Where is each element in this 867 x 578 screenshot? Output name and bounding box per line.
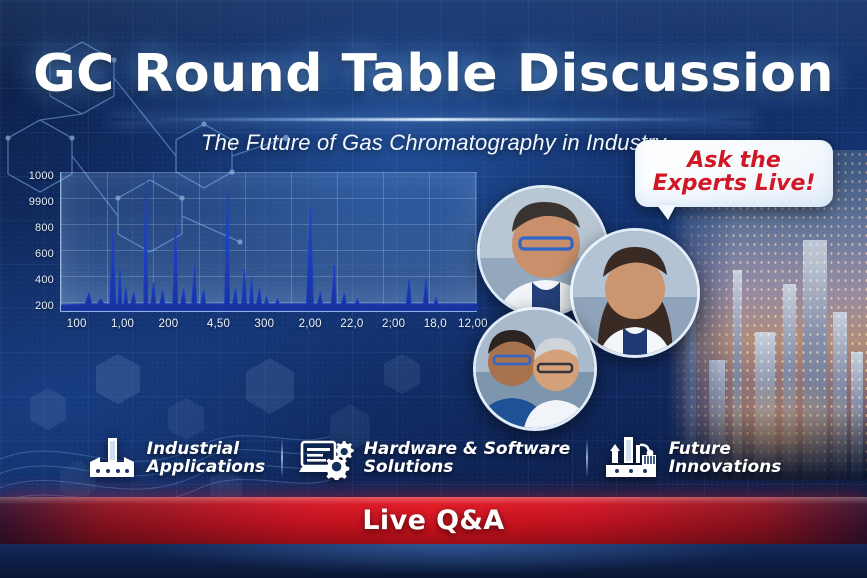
feature-hardware-software-solutions: Hardware & Software Solutions bbox=[283, 436, 587, 480]
bubble-line-2: Experts Live! bbox=[645, 172, 823, 195]
feature-label-line2: Solutions bbox=[364, 458, 571, 476]
portrait-illustration bbox=[476, 310, 594, 428]
feature-label: Hardware & Software Solutions bbox=[364, 440, 571, 476]
x-tick-label: 100 bbox=[67, 318, 87, 330]
factory-icon bbox=[86, 436, 138, 480]
feature-label-line2: Innovations bbox=[669, 458, 782, 476]
live-qa-banner: Live Q&A bbox=[0, 497, 867, 544]
chart-plot-area bbox=[60, 172, 477, 312]
x-tick-label: 2,00 bbox=[299, 318, 322, 330]
laptop-gears-icon bbox=[299, 436, 355, 480]
webinar-poster: 1000 9900 800 600 400 200 100 1,00 200 4… bbox=[0, 0, 867, 578]
x-tick-label: 22,0 bbox=[340, 318, 363, 330]
chart-y-axis-labels: 1000 9900 800 600 400 200 bbox=[22, 168, 58, 312]
y-tick-label: 600 bbox=[35, 248, 54, 260]
x-tick-label: 4,50 bbox=[207, 318, 230, 330]
y-tick-label: 200 bbox=[35, 300, 54, 312]
ask-the-experts-bubble: Ask the Experts Live! bbox=[635, 140, 833, 207]
chromatogram-chart: 1000 9900 800 600 400 200 100 1,00 200 4… bbox=[22, 168, 477, 338]
feature-label-line2: Applications bbox=[147, 458, 266, 476]
feature-label-line1: Hardware & Software bbox=[364, 440, 571, 458]
page-title: GC Round Table Discussion bbox=[0, 44, 867, 104]
y-tick-label: 400 bbox=[35, 274, 54, 286]
x-tick-label: 300 bbox=[254, 318, 274, 330]
banner-label: Live Q&A bbox=[362, 505, 504, 536]
bubble-line-1: Ask the bbox=[645, 149, 823, 172]
feature-label: Industrial Applications bbox=[147, 440, 266, 476]
x-tick-label: 200 bbox=[159, 318, 179, 330]
industrial-plant-icon bbox=[604, 435, 660, 481]
title-divider bbox=[112, 118, 755, 121]
x-tick-label: 2;00 bbox=[382, 318, 405, 330]
x-tick-label: 1,00 bbox=[111, 318, 134, 330]
bubble-tail bbox=[657, 205, 676, 220]
banner-bottom-sheen bbox=[0, 544, 867, 578]
y-tick-label: 9900 bbox=[29, 196, 54, 208]
banner-bottom-strip bbox=[0, 544, 867, 578]
feature-label-line1: Industrial bbox=[147, 440, 266, 458]
y-tick-label: 1000 bbox=[29, 170, 54, 182]
chromatogram-trace bbox=[61, 172, 477, 311]
chart-x-axis-labels: 100 1,00 200 4,50 300 2,00 22,0 2;00 18,… bbox=[60, 318, 477, 334]
y-tick-label: 800 bbox=[35, 222, 54, 234]
feature-strip: Industrial Applications Hardware bbox=[0, 430, 867, 486]
feature-future-innovations: Future Innovations bbox=[588, 435, 798, 481]
feature-industrial-applications: Industrial Applications bbox=[70, 436, 282, 480]
feature-label-line1: Future bbox=[669, 440, 782, 458]
x-tick-label: 18,0 bbox=[424, 318, 447, 330]
feature-label: Future Innovations bbox=[669, 440, 782, 476]
portrait-two-scientists bbox=[473, 307, 597, 431]
